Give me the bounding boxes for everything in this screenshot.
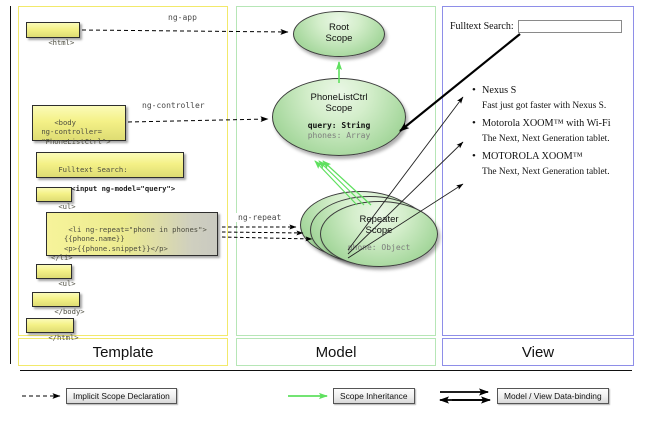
edge-label-ng-repeat: ng-repeat (236, 213, 283, 222)
edge-label-ng-app: ng-app (166, 13, 199, 22)
panel-view-title: View (522, 344, 554, 361)
phone-name: Nexus S (470, 85, 635, 96)
scope-phonelist-title-2: Scope (326, 104, 353, 115)
legend-label: Model / View Data-binding (497, 388, 609, 404)
code-text-label: Fulltext Search: (58, 165, 127, 174)
code-box-html-close: </html> (26, 318, 74, 333)
search-input[interactable] (518, 20, 622, 33)
code-text: <html> (48, 38, 74, 47)
phone-list: Nexus S Fast just got faster with Nexus … (470, 85, 635, 184)
scope-repeater-title-2: Scope (366, 226, 393, 237)
list-item: Nexus S Fast just got faster with Nexus … (470, 85, 635, 111)
code-box-li-ng-repeat: <li ng-repeat="phone in phones"> {{phone… (46, 212, 218, 256)
scope-root: Root Scope (293, 11, 385, 57)
legend-label: Scope Inheritance (333, 388, 415, 404)
scope-phonelist-prop-phones: phones: Array (308, 131, 371, 141)
code-box-body-open: <body ng-controller= "PhoneListCtrl"> (32, 105, 126, 141)
view-search-row: Fulltext Search: (450, 20, 622, 33)
code-text: <ul> (58, 279, 75, 288)
code-box-body-close: </body> (32, 292, 80, 307)
scope-phonelist-prop-query: query: String (308, 121, 371, 131)
code-text: <body ng-controller= "PhoneListCtrl"> (37, 118, 111, 146)
scope-repeater-prop-phone: phone: Object (348, 243, 411, 253)
code-box-fulltext-search: Fulltext Search: <input ng-model="query"… (36, 152, 184, 178)
panel-view-footer: View (442, 338, 634, 366)
legend: Implicit Scope Declaration Scope Inherit… (0, 378, 645, 418)
scope-phonelistctrl: PhoneListCtrl Scope query: String phones… (272, 78, 406, 156)
phone-name: MOTOROLA XOOM™ (470, 151, 635, 162)
diagram-canvas: Template Model View <html> <body ng-cont… (0, 0, 645, 425)
legend-label: Implicit Scope Declaration (66, 388, 177, 404)
code-box-html-open: <html> (26, 22, 80, 38)
legend-item-implicit-scope-declaration: Implicit Scope Declaration (66, 388, 177, 404)
panel-template-title: Template (93, 344, 154, 361)
list-item: Motorola XOOM™ with Wi-Fi The Next, Next… (470, 118, 635, 144)
legend-item-scope-inheritance: Scope Inheritance (333, 388, 415, 404)
view-search-label: Fulltext Search: (450, 21, 514, 32)
phone-snippet: The Next, Next Generation tablet. (470, 167, 635, 177)
code-text: </body> (54, 307, 84, 316)
code-text: </html> (48, 333, 78, 342)
phone-snippet: Fast just got faster with Nexus S. (470, 101, 635, 111)
legend-divider (20, 370, 632, 371)
scope-repeater: Repeater Scope phone: Object (320, 201, 438, 267)
code-box-ul-close: <ul> (36, 264, 72, 279)
scope-phonelist-title-1: PhoneListCtrl (310, 93, 367, 104)
phone-name: Motorola XOOM™ with Wi-Fi (470, 118, 635, 129)
legend-item-model-view-data-binding: Model / View Data-binding (497, 388, 609, 404)
left-rule (10, 6, 11, 364)
code-text: <ul> (58, 202, 75, 211)
code-box-ul-open: <ul> (36, 187, 72, 202)
phone-snippet: The Next, Next Generation tablet. (470, 134, 635, 144)
panel-model-footer: Model (236, 338, 436, 366)
panel-model-title: Model (316, 344, 357, 361)
edge-label-ng-controller: ng-controller (140, 101, 207, 110)
list-item: MOTOROLA XOOM™ The Next, Next Generation… (470, 151, 635, 177)
code-text-input: <input ng-model="query"> (58, 184, 175, 193)
scope-root-title-2: Scope (326, 34, 353, 45)
